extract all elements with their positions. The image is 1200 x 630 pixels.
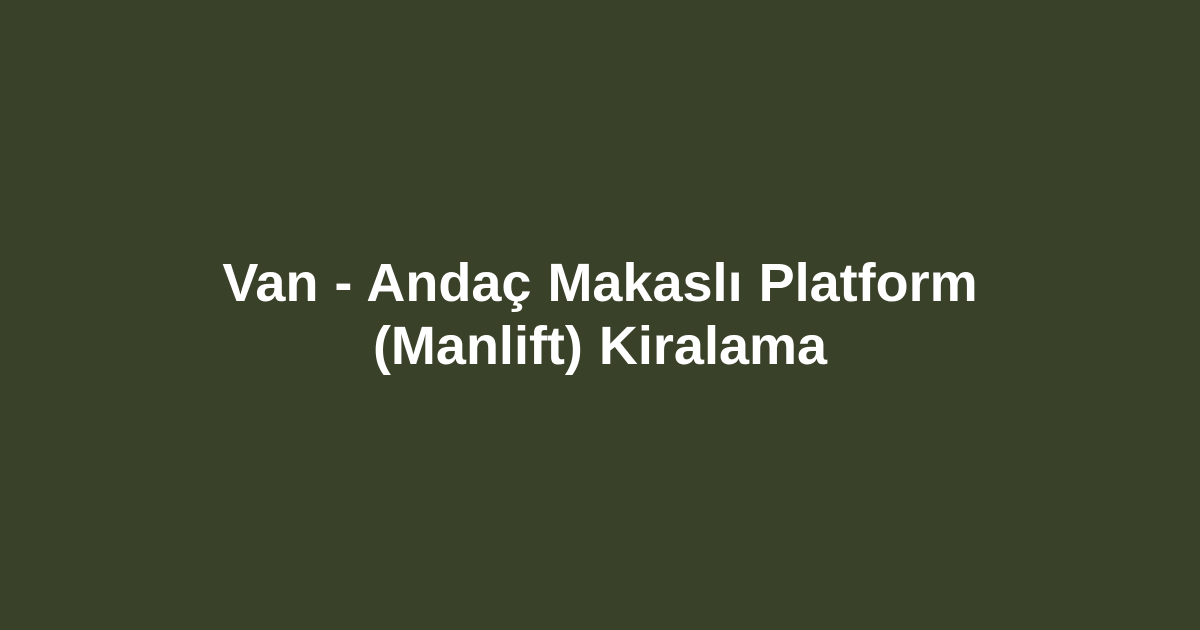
og-card-canvas: Van - Andaç Makaslı Platform (Manlift) K…: [0, 0, 1200, 630]
title-block: Van - Andaç Makaslı Platform (Manlift) K…: [100, 252, 1100, 378]
page-title: Van - Andaç Makaslı Platform (Manlift) K…: [100, 252, 1100, 378]
